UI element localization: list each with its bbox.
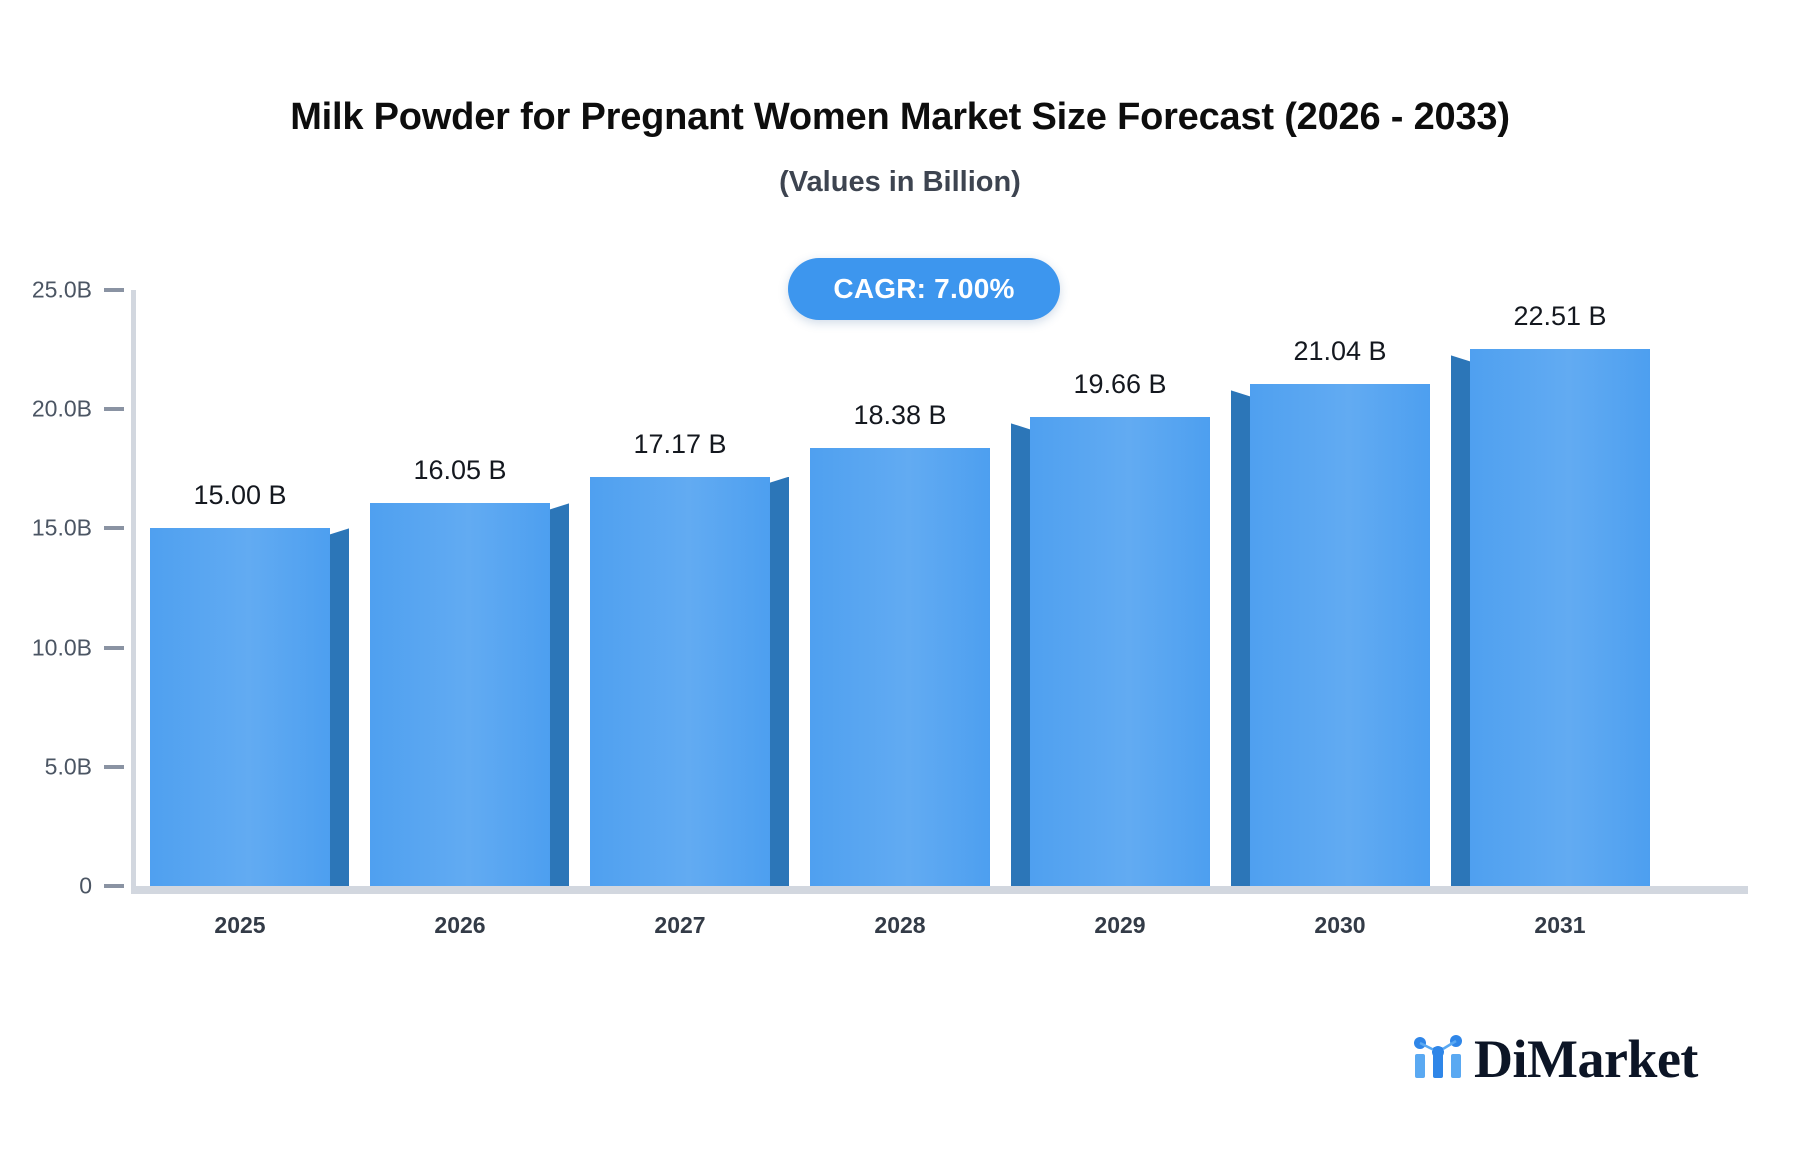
x-tick-label-2025: 2025 [214, 912, 265, 939]
y-tick-mark [104, 646, 124, 650]
bar-side-face [770, 477, 789, 886]
bar-front-face [1250, 384, 1430, 886]
bar-front-face [590, 477, 770, 886]
x-tick-label-2026: 2026 [434, 912, 485, 939]
y-tick-label: 20.0B [32, 396, 92, 423]
y-tick-label: 25.0B [32, 277, 92, 304]
x-tick-label-2029: 2029 [1094, 912, 1145, 939]
y-tick-mark [104, 884, 124, 888]
bar-front-face [370, 503, 550, 886]
bar-2028[interactable] [791, 290, 1009, 886]
brand-logo: DiMarket [1412, 1030, 1698, 1087]
bar-side-face [1451, 355, 1470, 886]
bar-2030[interactable] [1231, 290, 1449, 886]
x-axis-line [131, 886, 1748, 894]
logo-wordmark: DiMarket [1474, 1032, 1698, 1086]
y-tick-mark [104, 526, 124, 530]
bar-chart-with-trend-dots-icon [1412, 1030, 1464, 1087]
bar-2027[interactable] [571, 290, 789, 886]
bar-2026[interactable] [351, 290, 569, 886]
y-tick-mark [104, 407, 124, 411]
y-tick-label: 10.0B [32, 634, 92, 661]
bar-value-label: 17.17 B [633, 429, 726, 460]
bar-value-label: 15.00 B [193, 480, 286, 511]
bar-value-label: 21.04 B [1293, 336, 1386, 367]
y-tick-label: 15.0B [32, 515, 92, 542]
y-tick-label: 0 [79, 873, 92, 900]
bar-value-label: 22.51 B [1513, 301, 1606, 332]
bar-value-label: 18.38 B [853, 400, 946, 431]
bar-value-label: 16.05 B [413, 455, 506, 486]
x-tick-label-2030: 2030 [1314, 912, 1365, 939]
bar-front-face [150, 528, 330, 886]
x-tick-label-2028: 2028 [874, 912, 925, 939]
y-tick-mark [104, 765, 124, 769]
plot-area: 05.0B10.0B15.0B20.0B25.0B 15.00 B16.05 B… [0, 0, 1800, 1156]
y-tick-label: 5.0B [45, 753, 92, 780]
y-tick-mark [104, 288, 124, 292]
bar-side-face [550, 503, 569, 886]
bar-value-label: 19.66 B [1073, 369, 1166, 400]
x-tick-label-2031: 2031 [1534, 912, 1585, 939]
bar-front-face [1470, 349, 1650, 886]
x-tick-label-2027: 2027 [654, 912, 705, 939]
bar-2031[interactable] [1451, 290, 1669, 886]
bar-front-face [1030, 417, 1210, 886]
bar-side-face [1011, 423, 1030, 886]
bar-front-face [810, 448, 990, 886]
bar-side-face [330, 528, 349, 886]
bar-2025[interactable] [131, 290, 349, 886]
bar-side-face [1231, 390, 1250, 886]
chart-container: Milk Powder for Pregnant Women Market Si… [0, 0, 1800, 1156]
